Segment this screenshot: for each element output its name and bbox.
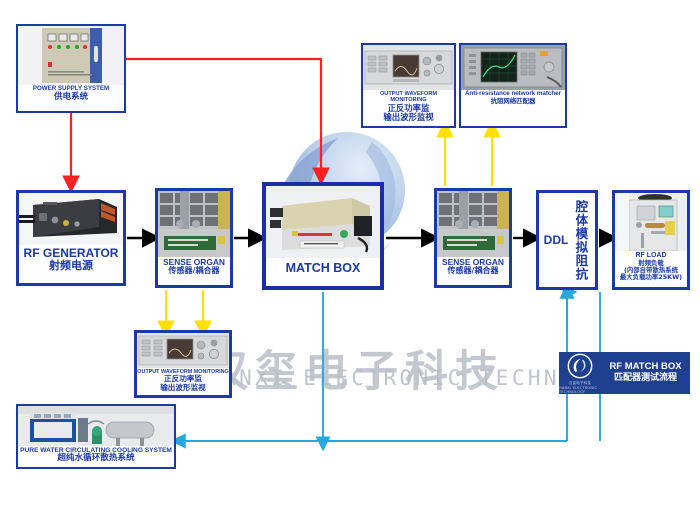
match-box-photo [266, 186, 380, 258]
legend-title-en: RF MATCH BOX [601, 361, 690, 373]
watermark-text-cn: 汉玺电子科技 [205, 337, 505, 399]
legend-title-cn: 匹配器测试流程 [601, 373, 690, 384]
sense-organ-1-label-cn: 传感器/耦合器 [158, 267, 230, 276]
node-match-box[interactable]: MATCH BOX [262, 182, 384, 290]
node-sense-organ-2[interactable]: SENSE ORGAN 传感器/耦合器 [434, 188, 512, 288]
node-sense-organ-1[interactable]: SENSE ORGAN 传感器/耦合器 [155, 188, 233, 288]
sense-organ-1-photo [158, 191, 230, 257]
node-cooling-system[interactable]: PURE WATER CIRCULATING COOLING SYSTEM 超纯… [16, 404, 176, 469]
legend-badge: 汉玺电子科技 HANXI ELECTRONIC TECHNOLOGY RF MA… [559, 352, 690, 394]
node-network-matcher[interactable]: Anti-resistance network matcher 抗阻网络匹配器 [459, 43, 567, 128]
node-rf-load[interactable]: RF LOAD 射频负载 (内部自带散热系统 最大负载功率25KW) [612, 190, 690, 290]
match-box-label-en: MATCH BOX [266, 261, 380, 275]
waveform-monitor-top-label-cn-2: 输出波形监视 [363, 113, 454, 122]
ddl-label-cn: 腔体模拟阻抗 [571, 200, 590, 281]
waveform-monitor-top-photo [363, 45, 454, 90]
waveform-monitor-bottom-label-cn-2: 输出波形监视 [137, 384, 229, 393]
power-connector-supply-to-matchbox [126, 59, 321, 173]
power-supply-photo [18, 26, 124, 85]
sense-organ-2-photo [437, 191, 509, 257]
node-waveform-monitor-bottom[interactable]: OUTPUT WAVEFORM MONITORING 正反功率监 输出波形监视 [134, 330, 232, 398]
waveform-monitor-bottom-photo [137, 333, 229, 368]
company-logo-text-cn: 汉玺电子科技 [569, 380, 591, 385]
node-waveform-monitor-top[interactable]: OUTPUT WAVEFORM MONITORING 正反功率监 输出波形监视 [361, 43, 456, 128]
network-matcher-label-cn: 抗阻网络匹配器 [461, 98, 565, 105]
node-power-supply-system[interactable]: POWER SUPPLY SYSTEM 供电系统 [16, 24, 126, 113]
network-matcher-photo [461, 45, 565, 90]
company-logo-text-en: HANXI ELECTRONIC TECHNOLOGY [559, 386, 601, 394]
cooling-system-label-cn: 超纯水循环散热系统 [18, 454, 174, 464]
power-supply-label-cn: 供电系统 [18, 93, 124, 103]
rf-generator-photo [19, 193, 123, 245]
waveform-monitor-top-label-en: OUTPUT WAVEFORM MONITORING [363, 91, 454, 104]
rf-load-photo [615, 193, 687, 251]
company-logo-icon: 汉玺电子科技 HANXI ELECTRONIC TECHNOLOGY [559, 352, 601, 394]
node-ddl[interactable]: DDL 腔体模拟阻抗 [536, 190, 598, 290]
ddl-label-en: DDL [544, 233, 569, 247]
node-rf-generator[interactable]: RF GENERATOR 射频电源 [16, 190, 126, 286]
sense-organ-2-label-cn: 传感器/耦合器 [437, 267, 509, 276]
rf-generator-label-cn: 射频电源 [19, 260, 123, 272]
rf-load-label-cn-3: 最大负载功率25KW) [615, 274, 687, 281]
cooling-system-photo [18, 406, 174, 446]
